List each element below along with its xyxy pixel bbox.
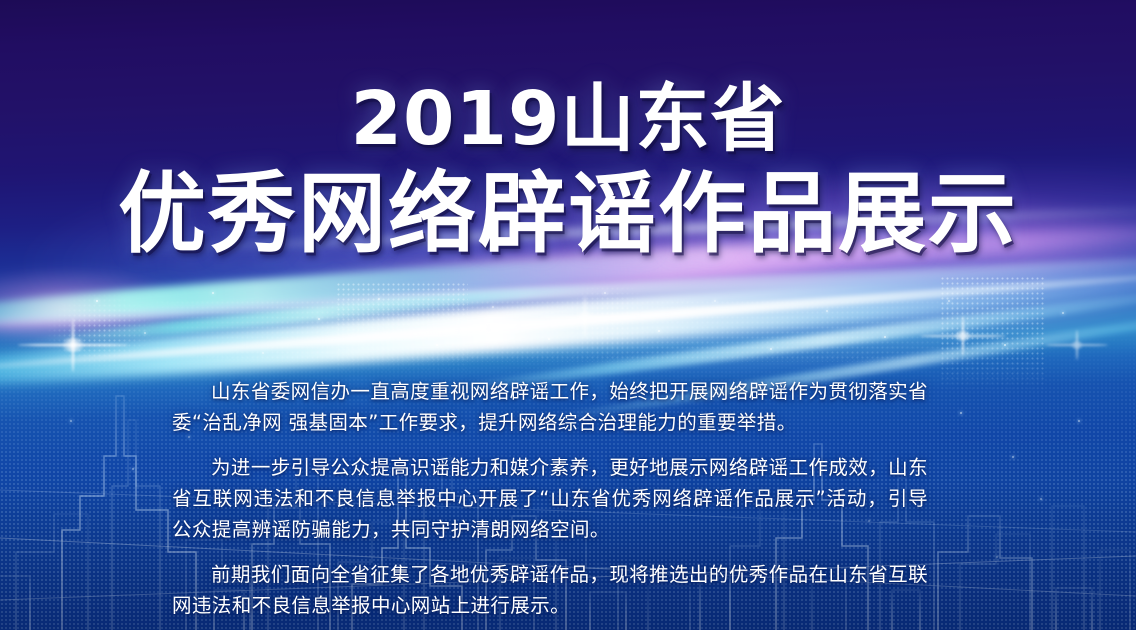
paragraph-2: 为进一步引导公众提高识谣能力和媒介素养，更好地展示网络辟谣工作成效，山东省互联网… [172,452,928,545]
paragraph-1: 山东省委网信办一直高度重视网络辟谣工作，始终把开展网络辟谣作为贯彻落实省委“治乱… [172,376,928,438]
title-line-2: 优秀网络辟谣作品展示 [0,170,1136,258]
poster-title: 2019山东省 优秀网络辟谣作品展示 [0,82,1136,258]
paragraph-3: 前期我们面向全省征集了各地优秀辟谣作品，现将推选出的优秀作品在山东省互联网违法和… [172,559,928,621]
title-line-1: 2019山东省 [0,82,1136,156]
poster-body-text: 山东省委网信办一直高度重视网络辟谣工作，始终把开展网络辟谣作为贯彻落实省委“治乱… [172,376,928,621]
poster-content: 2019山东省 优秀网络辟谣作品展示 山东省委网信办一直高度重视网络辟谣工作，始… [0,0,1136,630]
poster-banner: 2019山东省 优秀网络辟谣作品展示 山东省委网信办一直高度重视网络辟谣工作，始… [0,0,1136,630]
